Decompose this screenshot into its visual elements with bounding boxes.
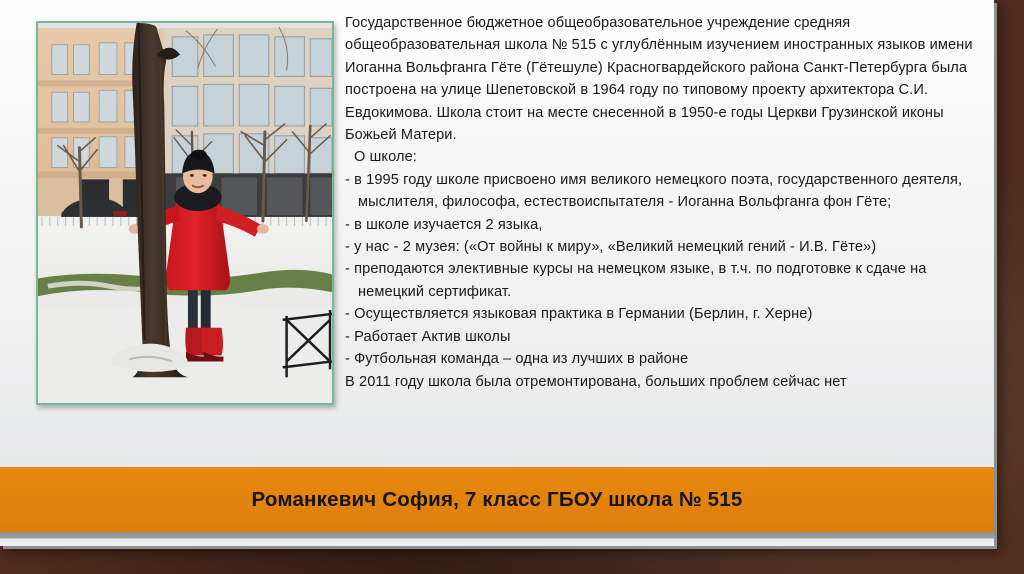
closing-paragraph: В 2011 году школа была отремонтирована, … xyxy=(345,371,977,393)
bullet-item: - у нас - 2 музея: («От войны к миру», «… xyxy=(345,236,977,258)
intro-paragraph: Государственное бюджетное общеобразовате… xyxy=(345,12,977,146)
author-banner-text: Романкевич София, 7 класс ГБОУ школа № 5… xyxy=(252,488,743,512)
bullet-item: - Осуществляется языковая практика в Гер… xyxy=(345,303,977,325)
bullet-item: - Футбольная команда – одна из лучших в … xyxy=(345,348,977,370)
bullet-item: - в 1995 году школе присвоено имя велико… xyxy=(345,169,977,214)
slide-bottom-ledge xyxy=(0,532,994,546)
author-banner: Романкевич София, 7 класс ГБОУ школа № 5… xyxy=(0,467,994,532)
bullet-item: - Работает Актив школы xyxy=(345,326,977,348)
about-heading: О школе: xyxy=(345,146,977,168)
school-photo-image xyxy=(38,23,332,403)
school-photo xyxy=(36,21,334,405)
bullet-item: - преподаются элективные курсы на немецк… xyxy=(345,258,977,303)
presentation-slide: Государственное бюджетное общеобразовате… xyxy=(0,0,994,546)
slide-body-text: Государственное бюджетное общеобразовате… xyxy=(345,12,977,393)
bullet-item: - в школе изучается 2 языка, xyxy=(345,214,977,236)
